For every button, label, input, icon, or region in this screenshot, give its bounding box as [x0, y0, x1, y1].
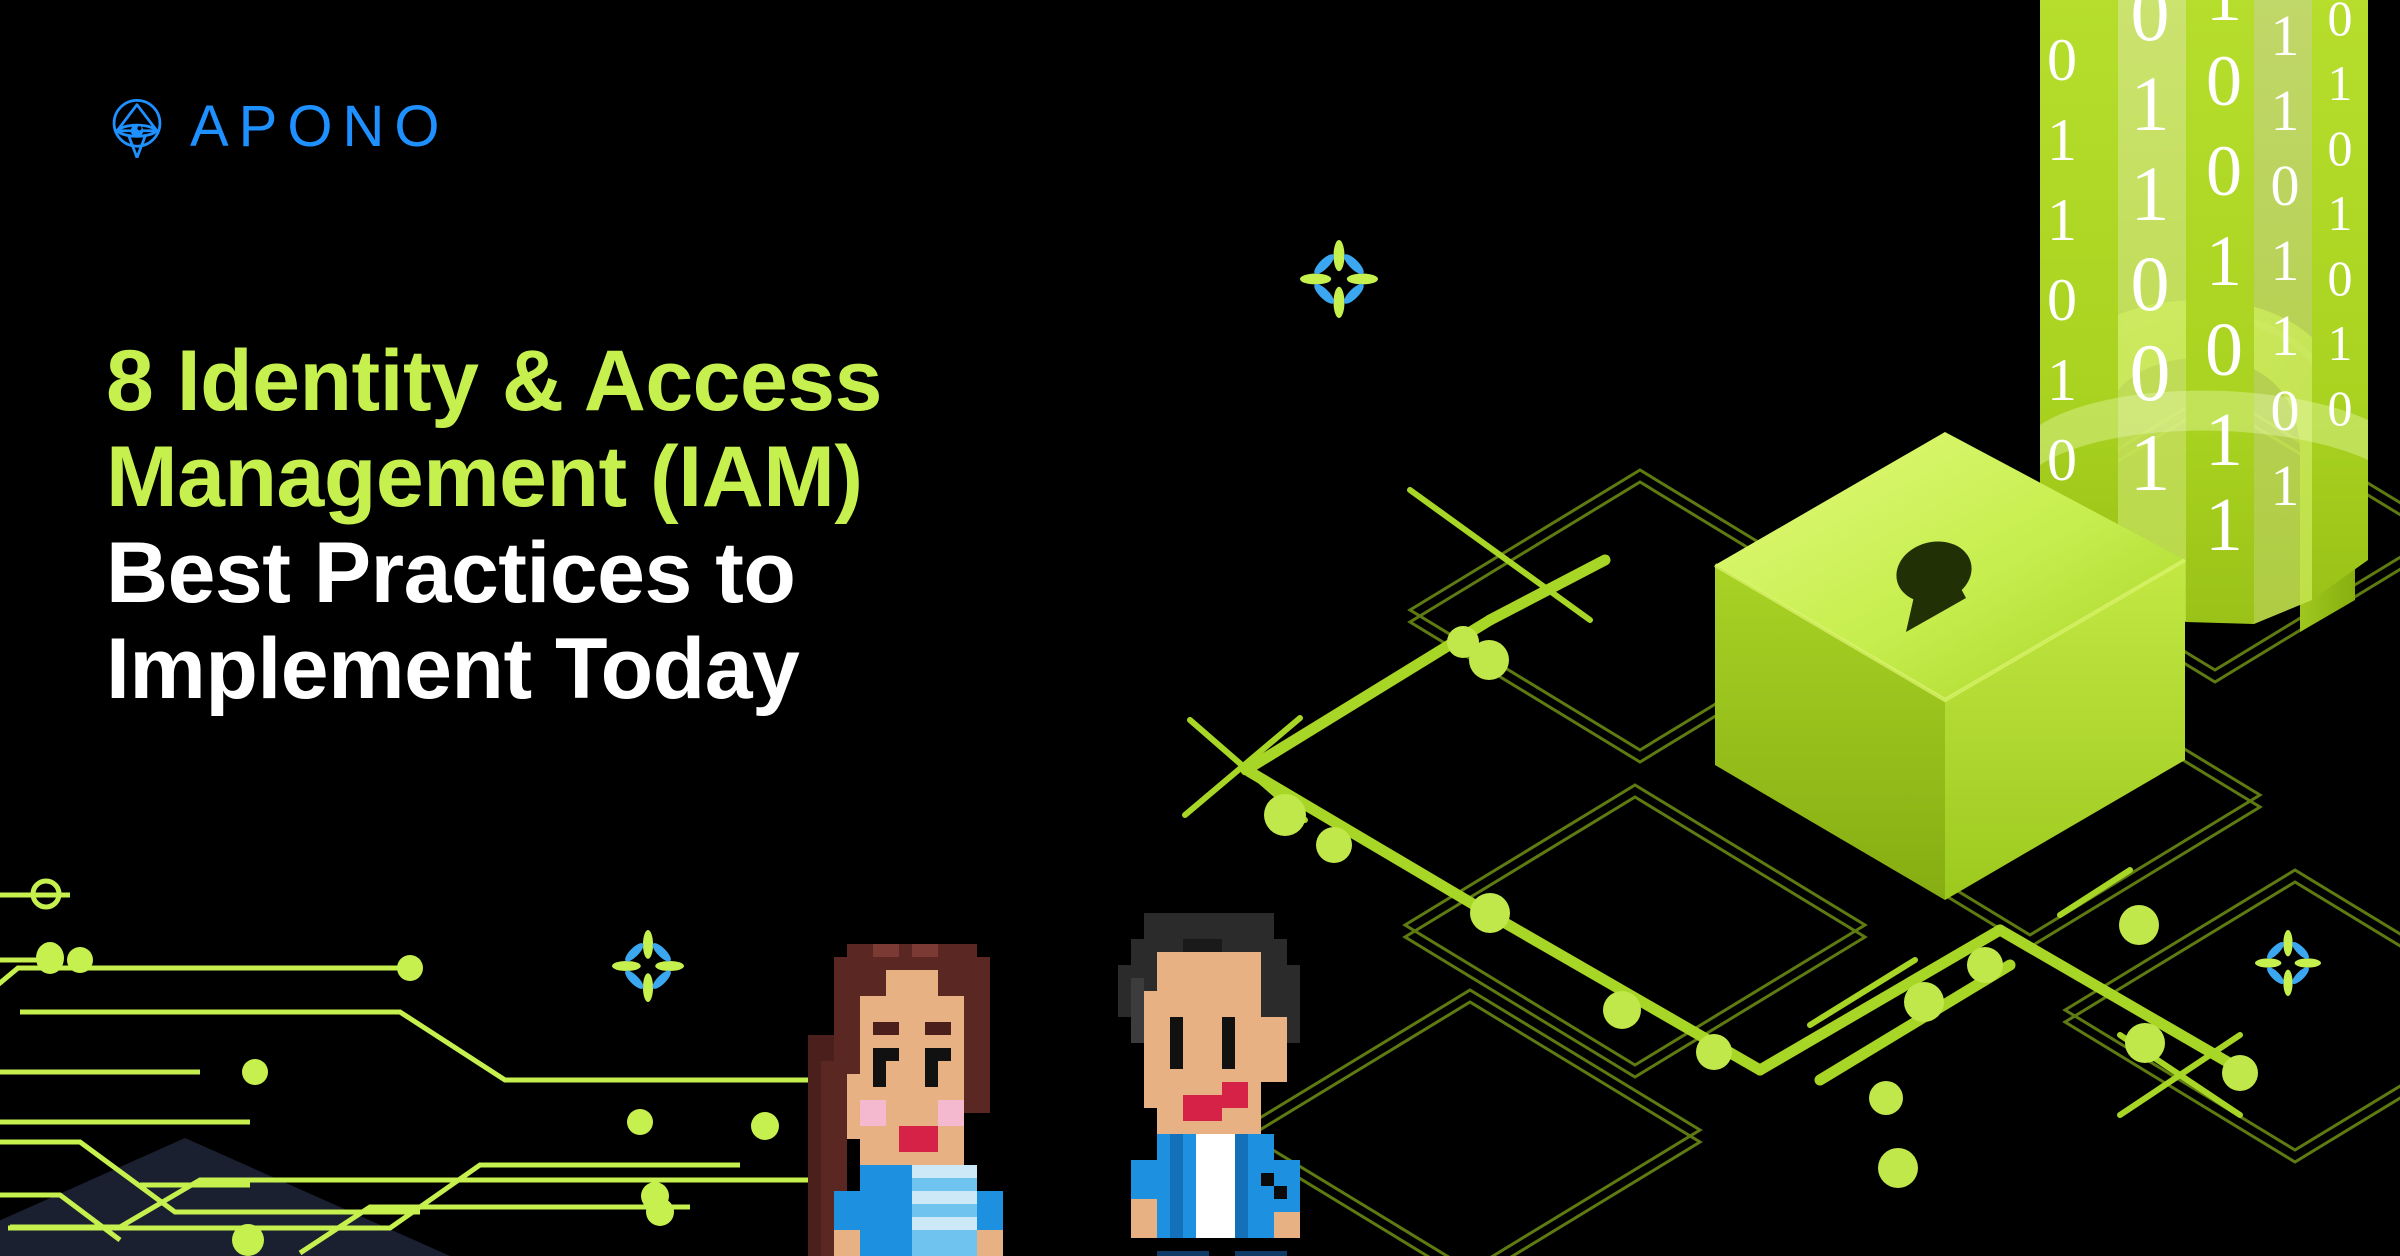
page-title: 8 Identity & Access Management (IAM) Bes… [106, 338, 1286, 722]
keyhole-icon [1890, 534, 1978, 632]
network-link-lines [1246, 560, 2250, 1080]
headline-line-3: Best Practices to [106, 530, 1286, 616]
svg-text:1: 1 [2047, 347, 2077, 413]
circuit-traces [0, 895, 830, 1253]
isometric-padlock: 10 11 01 0 01 10 01 10 01 01 1 11 01 10 [1715, 0, 2368, 900]
svg-text:0: 0 [2328, 250, 2353, 306]
svg-text:0: 0 [2328, 380, 2353, 436]
svg-text:1: 1 [2271, 78, 2300, 143]
svg-text:1: 1 [2328, 315, 2353, 371]
sparkle-green-rays [2255, 930, 2321, 996]
svg-text:1: 1 [2205, 483, 2243, 567]
sparkle-green-rays [612, 930, 684, 1002]
svg-text:1: 1 [2047, 187, 2077, 253]
svg-text:0: 0 [2047, 267, 2077, 333]
svg-text:0: 0 [2131, 240, 2170, 327]
svg-text:0: 0 [2206, 131, 2242, 211]
headline-line-1: 8 Identity & Access [106, 338, 1286, 424]
pixel-character-male [1118, 913, 1300, 1256]
svg-text:1: 1 [2131, 60, 2170, 147]
binary-digits: 10 11 01 0 01 10 01 10 01 01 1 11 01 10 [2047, 0, 2353, 567]
pixel-character-female [808, 944, 1003, 1256]
apono-eye-pyramid-icon [106, 96, 168, 158]
triangle-shape [0, 1138, 450, 1256]
circuit-hollow-node [33, 881, 59, 907]
network-node-dots [1264, 626, 2258, 1188]
svg-text:0: 0 [2131, 0, 2170, 57]
network-outline-diamonds [1240, 390, 2400, 1256]
svg-text:0: 0 [2271, 153, 2300, 218]
svg-text:0: 0 [2328, 0, 2353, 46]
svg-text:0: 0 [2047, 427, 2077, 493]
svg-text:1: 1 [2206, 0, 2242, 36]
svg-text:0: 0 [2047, 27, 2077, 93]
apono-logo-text: APONO [190, 98, 450, 156]
svg-text:1: 1 [2131, 150, 2170, 237]
svg-text:1: 1 [2206, 221, 2242, 301]
headline-line-2: Management (IAM) [106, 434, 1286, 520]
sparkle-right [2255, 930, 2321, 996]
svg-text:0: 0 [2205, 308, 2243, 392]
apono-logo[interactable]: APONO [106, 96, 450, 158]
svg-text:0: 0 [2328, 120, 2353, 176]
svg-text:1: 1 [2271, 3, 2300, 68]
svg-text:0: 0 [2206, 41, 2242, 121]
circuit-filled-node [36, 942, 64, 974]
svg-text:0: 0 [2271, 378, 2300, 443]
svg-text:1: 1 [2205, 398, 2243, 482]
network-thin-crosses [1185, 490, 2240, 1115]
binary-data-stream: 10 11 01 0 01 10 01 10 01 01 1 11 01 10 [2040, 0, 2368, 624]
svg-text:1: 1 [2271, 228, 2300, 293]
svg-text:1: 1 [2047, 107, 2077, 173]
headline-line-4: Implement Today [106, 626, 1286, 712]
svg-text:0: 0 [2130, 327, 2171, 418]
svg-text:1: 1 [2130, 417, 2171, 508]
sparkle-top-left [1300, 240, 1378, 318]
svg-text:1: 1 [2271, 453, 2300, 518]
svg-text:1: 1 [2271, 303, 2300, 368]
svg-text:1: 1 [2328, 55, 2353, 111]
sparkle-green-rays [1300, 240, 1378, 318]
sparkle-mid-left [612, 930, 684, 1002]
svg-text:1: 1 [2328, 185, 2353, 241]
hero-banner: 10 11 01 0 01 10 01 10 01 01 1 11 01 10 [0, 0, 2400, 1256]
svg-text:1: 1 [2047, 0, 2077, 13]
